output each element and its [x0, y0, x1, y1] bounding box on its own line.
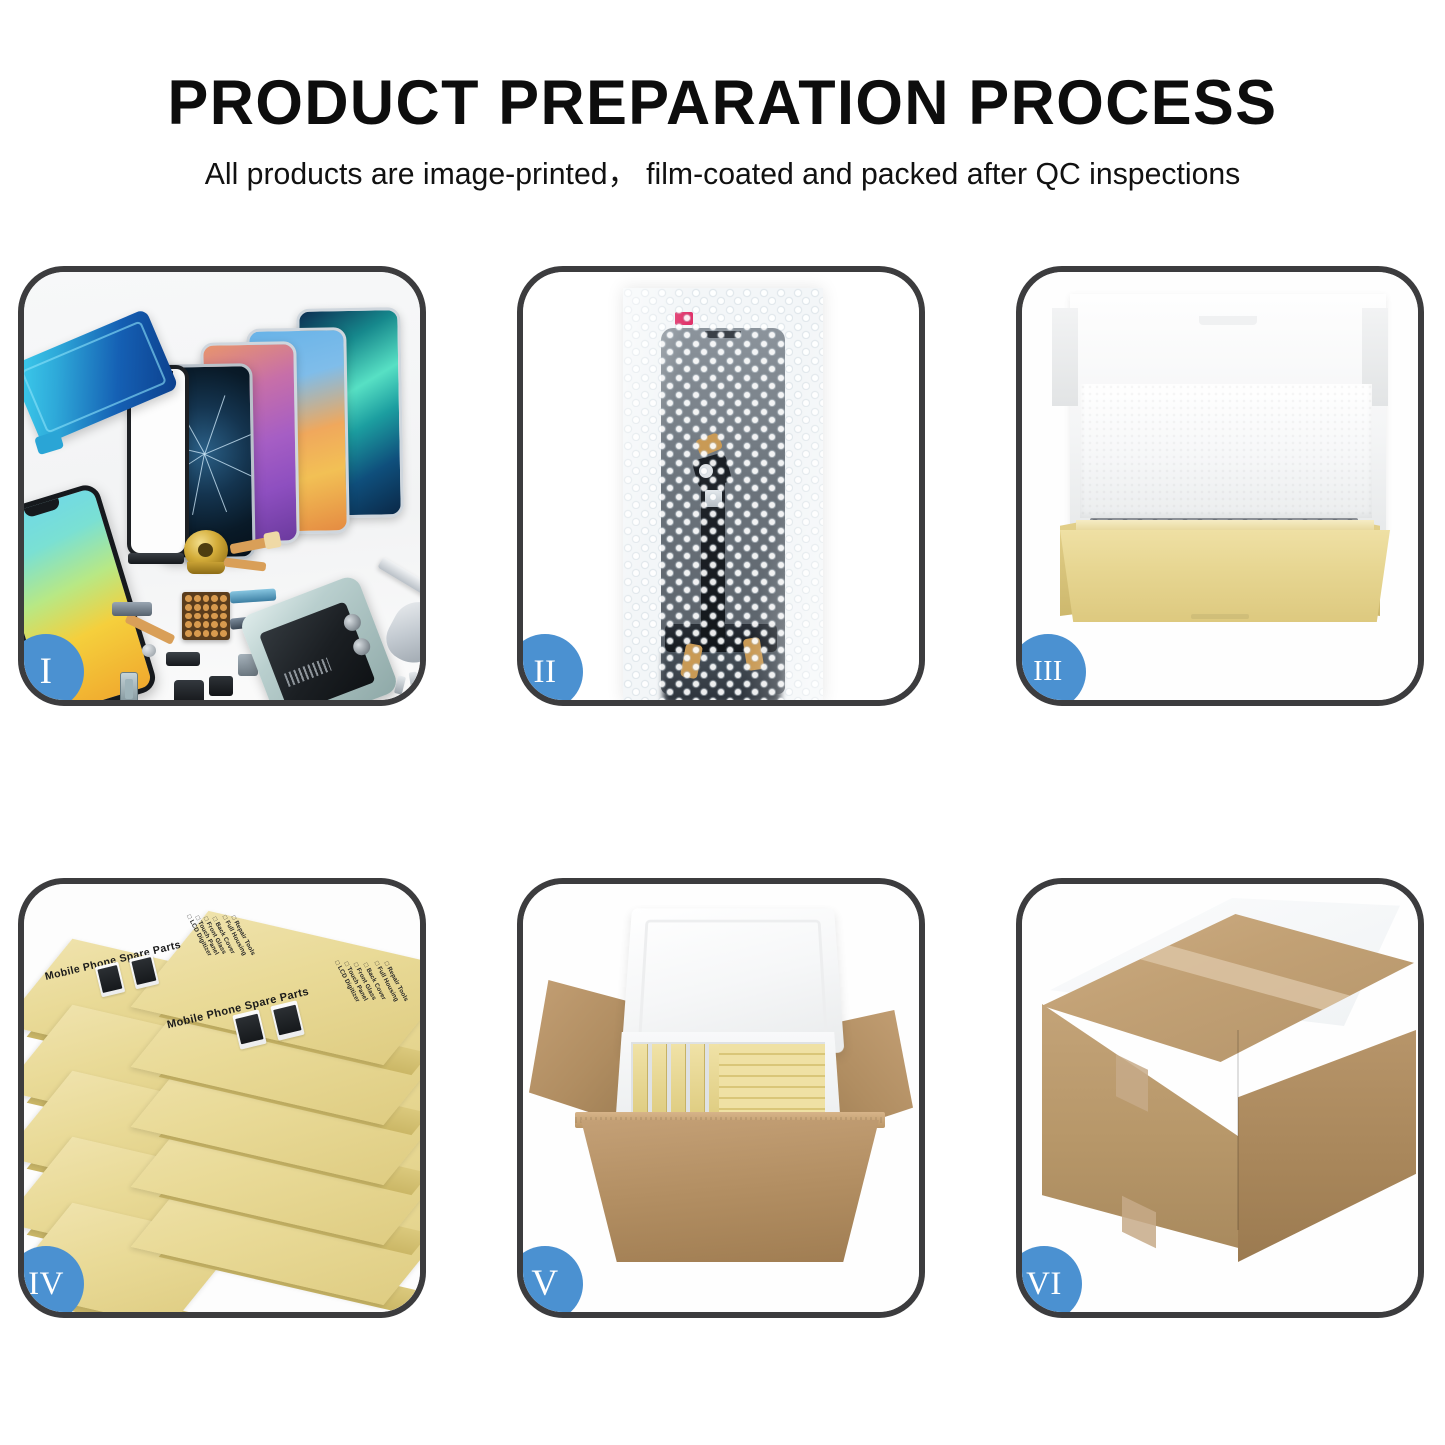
step-panel-5: V	[517, 878, 925, 1318]
earpiece-mesh-icon	[128, 553, 184, 564]
parts-assortment-scene	[24, 272, 420, 700]
foam-lid	[622, 908, 845, 1053]
lid-flap-left	[1052, 308, 1078, 406]
step-panel-3: III	[1016, 266, 1424, 706]
yellow-box-upright	[671, 1044, 686, 1114]
step-panel-2: II	[517, 266, 925, 706]
stacked-boxes-scene: Mobile Phone Spare Parts LCD Digitizer T…	[24, 884, 420, 1312]
page-subtitle: All products are image-printed， film-coa…	[7, 159, 1438, 190]
step-1-image	[24, 272, 420, 700]
step-2-image	[523, 272, 919, 700]
step-4-image: Mobile Phone Spare Parts LCD Digitizer T…	[24, 884, 420, 1312]
yellow-box-upright	[652, 1044, 667, 1114]
yellow-box-front	[1060, 530, 1390, 622]
carton-vertical-edge	[1237, 1030, 1239, 1230]
film-pull-tab	[34, 430, 64, 455]
step-panel-4: Mobile Phone Spare Parts LCD Digitizer T…	[18, 878, 426, 1318]
step-5-image	[523, 884, 919, 1312]
foam-boxed-scene	[1022, 272, 1418, 700]
flex-cable-2	[224, 557, 267, 571]
sealed-carton-scene	[1022, 884, 1418, 1312]
yellow-box-upright	[633, 1044, 648, 1114]
box-seam	[1191, 614, 1249, 619]
carton-face-right	[1238, 1030, 1416, 1262]
bubble-wrapped-screen-scene	[523, 272, 919, 700]
notch-icon	[24, 498, 61, 518]
yellow-box-upright	[690, 1044, 705, 1114]
small-component-2	[174, 680, 204, 700]
small-component-1	[166, 652, 200, 666]
page-title: PRODUCT PREPARATION PROCESS	[22, 72, 1424, 135]
speaker-module-rim	[187, 562, 225, 574]
flex-cable-6	[230, 588, 277, 603]
carton-foam-liner-scene	[523, 884, 919, 1312]
infographic-page: PRODUCT PREPARATION PROCESS All products…	[0, 0, 1445, 1445]
bubble-wrap-bag	[623, 288, 823, 700]
small-component-3	[209, 676, 233, 696]
step-3-image	[1022, 272, 1418, 700]
white-foam-sheet	[1080, 384, 1372, 518]
foam-cavity	[631, 1042, 825, 1116]
bag-sheen	[623, 288, 823, 700]
step-6-image	[1022, 884, 1418, 1312]
carton-body	[581, 1120, 879, 1262]
home-button-icon	[142, 644, 156, 657]
lid-notch	[1199, 316, 1257, 325]
process-step-grid: I	[18, 266, 1428, 1318]
yellow-box-stack	[719, 1044, 825, 1114]
ic-chip-icon	[182, 592, 230, 640]
step-badge-3: III	[1016, 634, 1086, 706]
screw-icon	[409, 671, 420, 690]
flex-cable-5	[112, 602, 152, 616]
header: PRODUCT PREPARATION PROCESS All products…	[0, 0, 1445, 190]
screwdriver-icon	[377, 557, 420, 599]
sim-tray-icon	[120, 672, 138, 700]
step-panel-1: I	[18, 266, 426, 706]
step-panel-6: VI	[1016, 878, 1424, 1318]
